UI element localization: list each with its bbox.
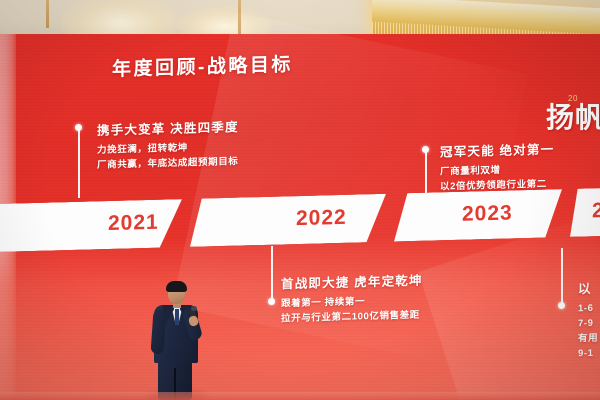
entry-headline: 冠军天能 绝对第一	[440, 139, 554, 161]
entry-line-1: 1-6	[578, 302, 598, 317]
entry-headline: 携手大变革 决胜四季度	[97, 116, 239, 139]
year-chevron-2021[interactable]: 2021	[0, 199, 182, 252]
slide-title: 年度回顾-战略目标	[112, 49, 293, 81]
year-chevron-2024[interactable]: 2024	[570, 188, 600, 237]
entry-line-3: 有用	[578, 332, 598, 347]
year-label-2023: 2023	[462, 201, 513, 226]
timeline-dot-2021	[75, 124, 82, 131]
year-chevron-2023[interactable]: 2023	[394, 189, 562, 241]
entry-2021: 携手大变革 决胜四季度 力挽狂澜，扭转乾坤 厂商共赢，年底达成超预期目标	[97, 116, 239, 173]
timeline-dot-2023	[422, 146, 429, 153]
timeline-connector-2021	[78, 128, 80, 198]
timeline-dot-2024	[558, 302, 565, 309]
year-chevron-2022[interactable]: 2022	[190, 194, 386, 247]
speaker-glasses	[168, 291, 185, 296]
event-logo: 扬帆	[546, 96, 600, 140]
year-label-2022: 2022	[296, 206, 347, 231]
entry-line-2: 7-9	[578, 317, 598, 332]
ceiling-gold-pole	[46, 0, 49, 28]
entry-headline: 以	[578, 278, 598, 298]
ceiling-gold-pole	[238, 0, 241, 34]
year-label-2021: 2021	[108, 211, 159, 236]
entry-2023: 冠军天能 绝对第一 厂商量利双增 以2倍优势领跑行业第二	[440, 139, 554, 195]
entry-2022: 首战即大捷 虎年定乾坤 跟着第一 持续第一 拉开与行业第二100亿销售差距	[245, 270, 423, 328]
speaker-tie	[175, 309, 179, 325]
stage-photo-scene: 年度回顾-战略目标 20 扬帆 携手大变革 决胜四季度 力挽狂澜，扭转乾坤 厂商…	[0, 0, 600, 400]
entry-2024: 以 1-6 7-9 有用 9-1	[578, 278, 598, 362]
entry-headline: 首战即大捷 虎年定乾坤	[281, 270, 423, 293]
entry-line-4: 9-1	[578, 347, 598, 362]
stage-edge	[0, 392, 600, 400]
microphone-head	[191, 306, 197, 311]
timeline-connector-2024	[561, 248, 563, 306]
year-label-2024: 2024	[592, 198, 600, 223]
